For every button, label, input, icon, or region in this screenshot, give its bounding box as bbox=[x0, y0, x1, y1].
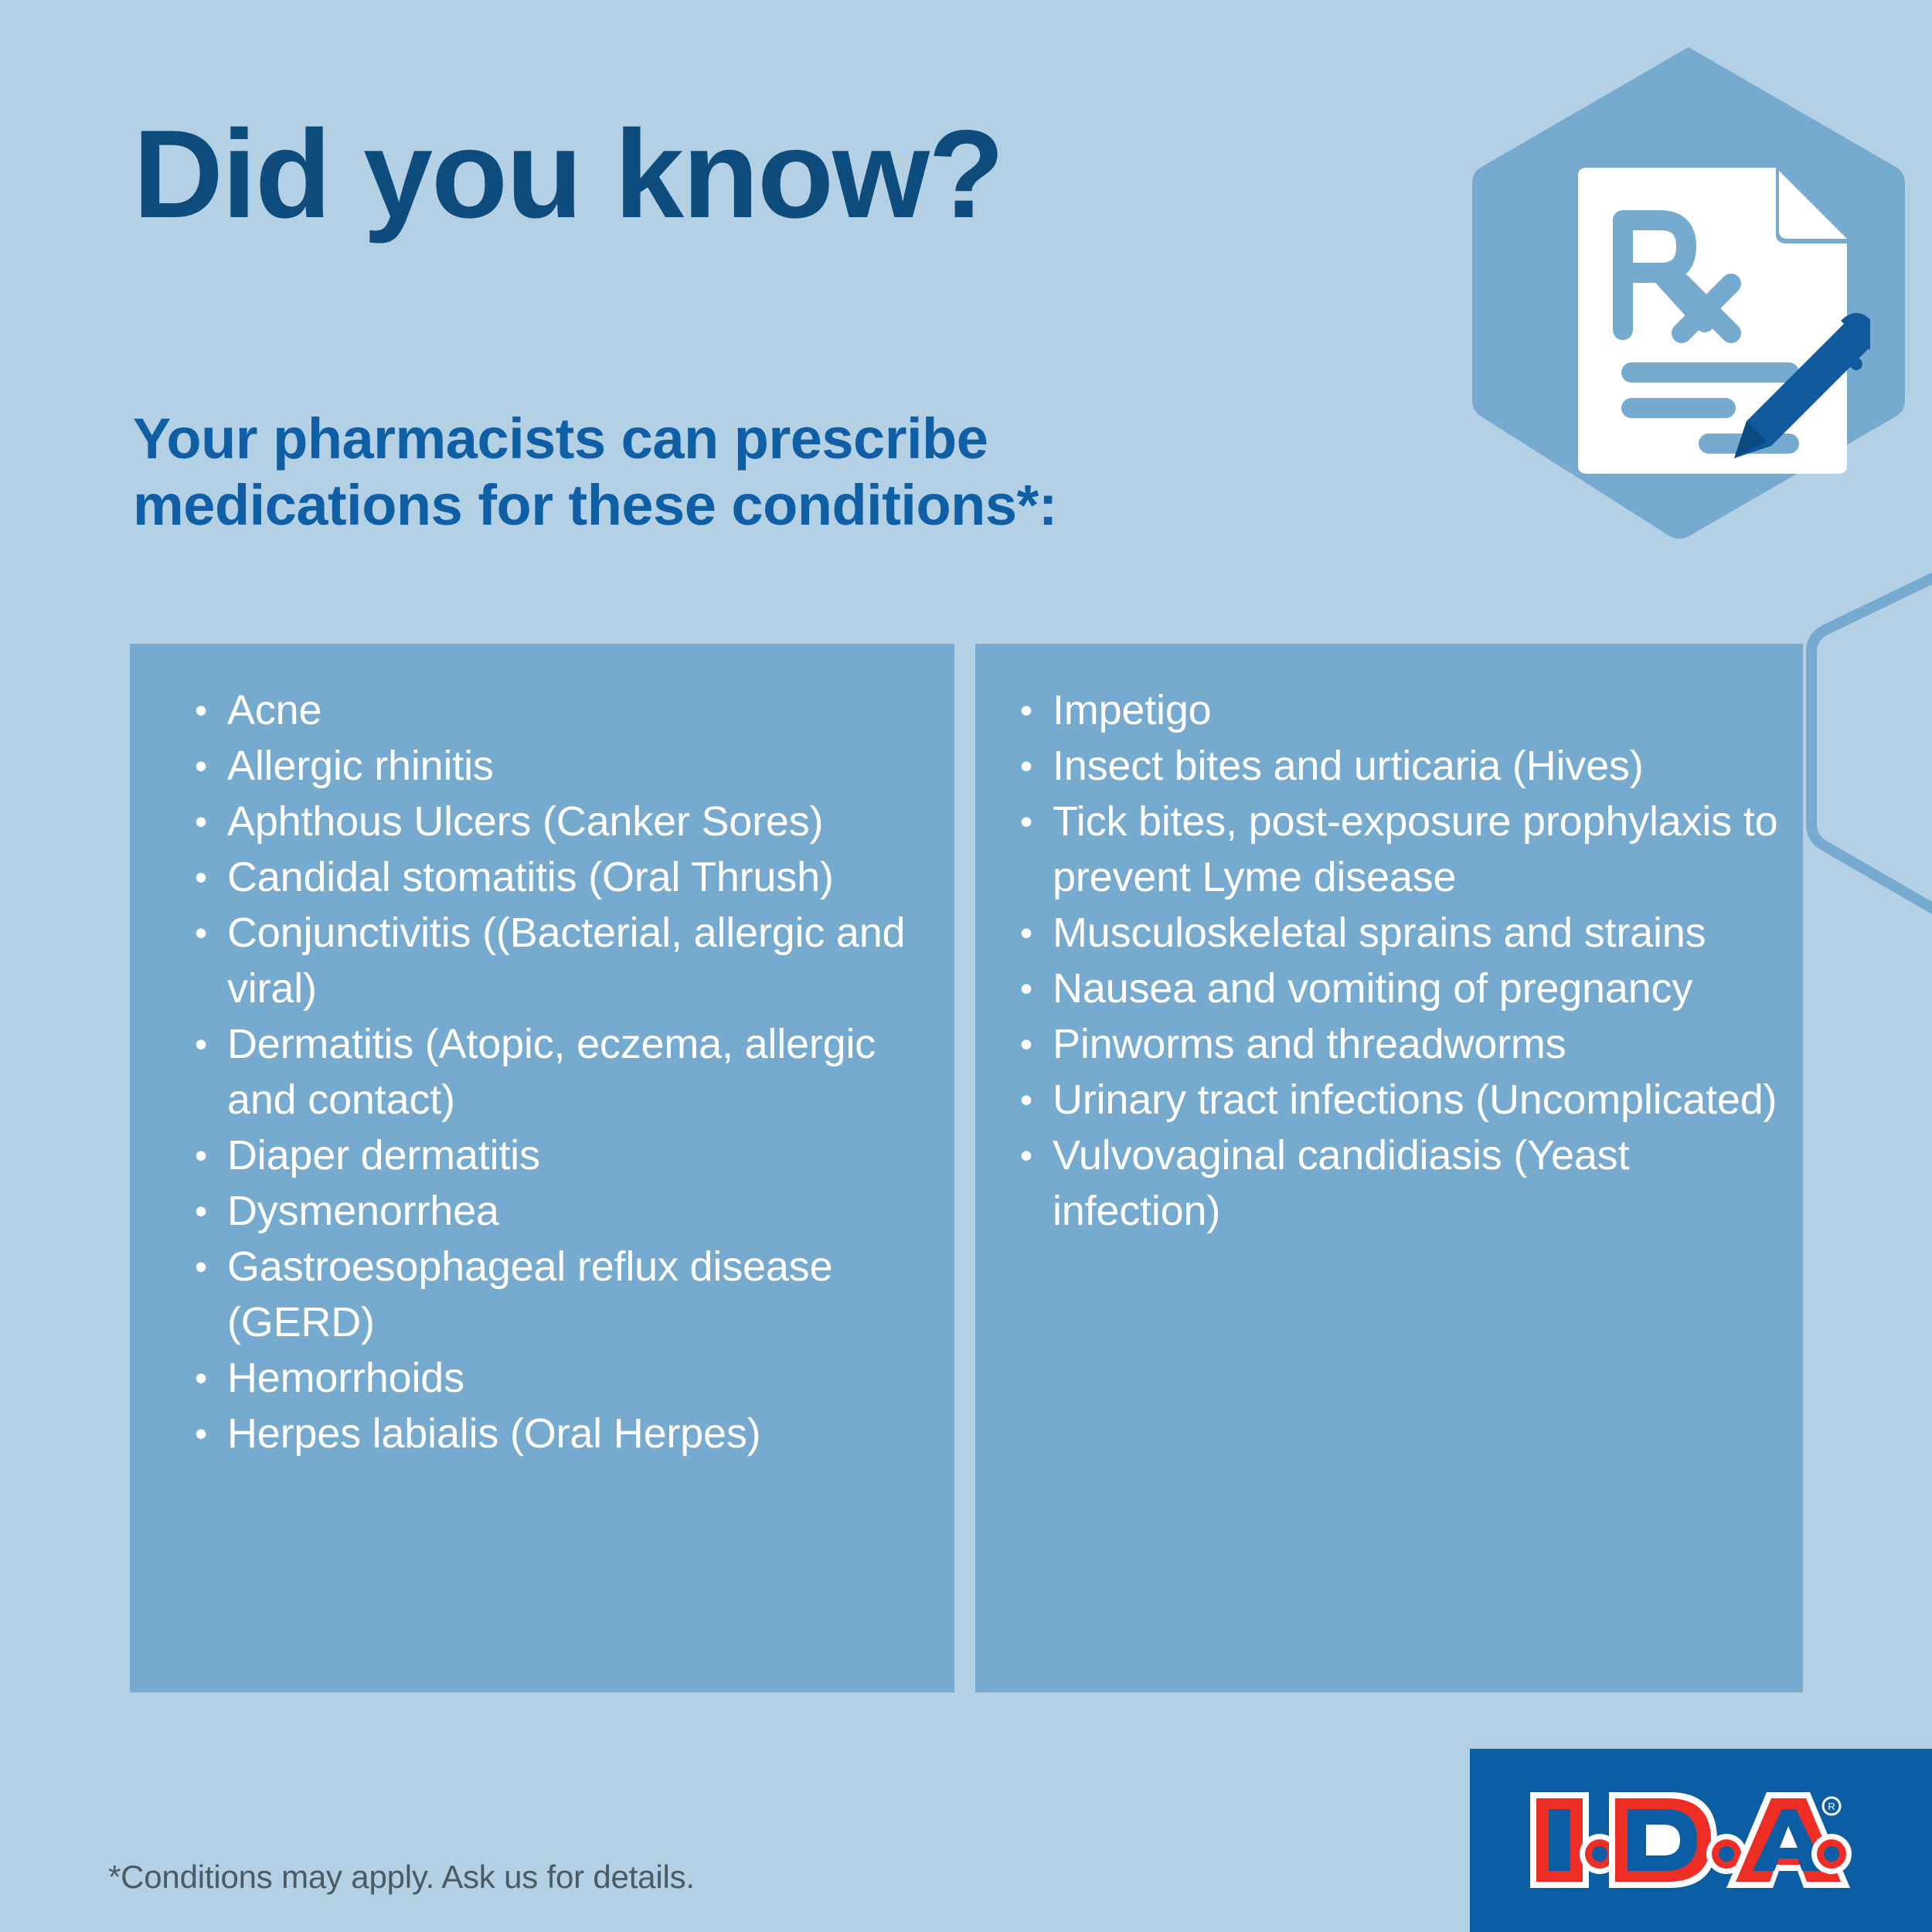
rx-prescription-icon bbox=[1569, 166, 1870, 475]
footnote-text: *Conditions may apply. Ask us for detail… bbox=[108, 1859, 695, 1896]
condition-item: Candidal stomatitis (Oral Thrush) bbox=[193, 849, 935, 905]
conditions-panel-right: ImpetigoInsect bites and urticaria (Hive… bbox=[975, 644, 1803, 1692]
page-subtitle: Your pharmacists can prescribe medicatio… bbox=[133, 406, 1057, 539]
subtitle-line-2: medications for these conditions*: bbox=[133, 472, 1057, 539]
conditions-panel-left: AcneAllergic rhinitisAphthous Ulcers (Ca… bbox=[130, 644, 954, 1692]
conditions-list-right: ImpetigoInsect bites and urticaria (Hive… bbox=[1019, 682, 1791, 1239]
condition-item: Musculoskeletal sprains and strains bbox=[1019, 905, 1791, 961]
condition-item: Vulvovaginal candidiasis (Yeast infectio… bbox=[1019, 1128, 1791, 1239]
condition-item: Pinworms and threadworms bbox=[1019, 1016, 1791, 1072]
condition-item: Nausea and vomiting of pregnancy bbox=[1019, 961, 1791, 1016]
ida-logo-block: R bbox=[1470, 1749, 1932, 1932]
condition-item: Tick bites, post-exposure prophylaxis to… bbox=[1019, 794, 1791, 905]
condition-item: Hemorrhoids bbox=[193, 1350, 935, 1406]
condition-item: Insect bites and urticaria (Hives) bbox=[1019, 738, 1791, 794]
condition-item: Diaper dermatitis bbox=[193, 1128, 935, 1183]
condition-item: Conjunctivitis ((Bacterial, allergic and… bbox=[193, 905, 935, 1016]
conditions-list-left: AcneAllergic rhinitisAphthous Ulcers (Ca… bbox=[193, 682, 935, 1461]
svg-text:R: R bbox=[1828, 1801, 1835, 1812]
subtitle-line-1: Your pharmacists can prescribe bbox=[133, 406, 1057, 472]
condition-item: Dysmenorrhea bbox=[193, 1183, 935, 1239]
condition-item: Dermatitis (Atopic, eczema, allergic and… bbox=[193, 1016, 935, 1128]
condition-item: Allergic rhinitis bbox=[193, 738, 935, 794]
condition-item: Acne bbox=[193, 682, 935, 738]
page-title: Did you know? bbox=[133, 112, 1003, 237]
condition-item: Urinary tract infections (Uncomplicated) bbox=[1019, 1072, 1791, 1128]
ida-logo-icon: R bbox=[1522, 1786, 1855, 1894]
condition-item: Herpes labialis (Oral Herpes) bbox=[193, 1406, 935, 1461]
condition-item: Gastroesophageal reflux disease (GERD) bbox=[193, 1239, 935, 1350]
hexagon-outline-shape bbox=[1801, 556, 1932, 920]
condition-item: Impetigo bbox=[1019, 682, 1791, 738]
condition-item: Aphthous Ulcers (Canker Sores) bbox=[193, 794, 935, 849]
infographic-poster: Did you know? Your pharmacists can presc… bbox=[0, 0, 1932, 1932]
